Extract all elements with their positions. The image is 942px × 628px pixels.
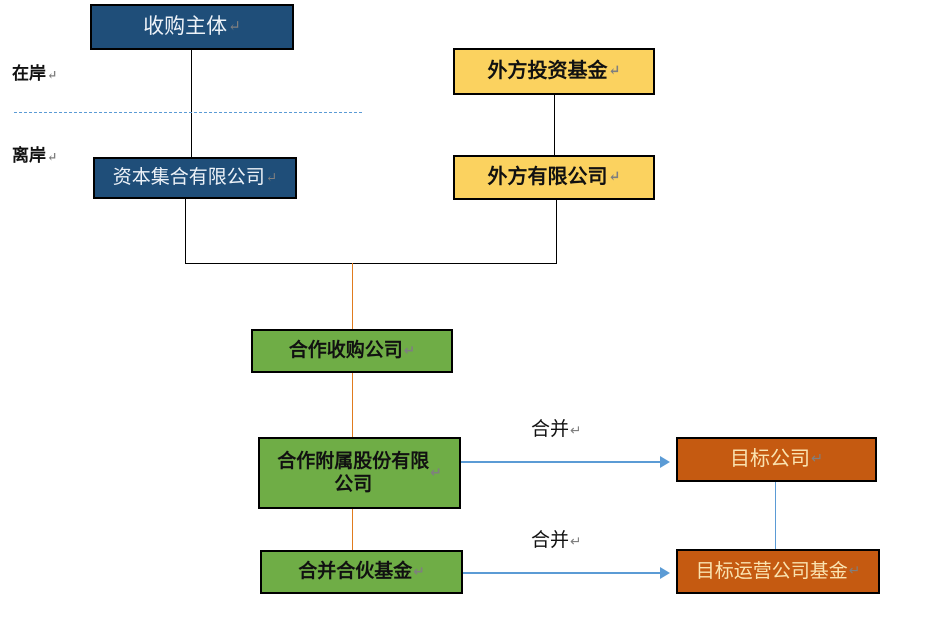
node-acquirer[interactable]: 收购主体↵ [90, 4, 294, 50]
node-target-company-label: 目标公司 [730, 447, 810, 471]
arrow-partnership-merge-opcofund [463, 572, 661, 574]
node-merger-partnership-label: 合并合伙基金 [298, 560, 412, 583]
pilcrow-mark: ↵ [848, 563, 860, 580]
node-acquirer-label: 收购主体 [143, 14, 227, 40]
pilcrow-mark: ↵ [429, 465, 441, 482]
pilcrow-mark: ↵ [46, 68, 57, 82]
connector-foreignfund-to-foreignltd [554, 95, 555, 157]
edge-label-merge-bottom: 合并↵ [531, 525, 581, 552]
onshore-offshore-divider [14, 112, 362, 113]
connector-capital-down [185, 199, 186, 263]
node-capital-holding-label: 资本集合有限公司 [113, 166, 265, 189]
pilcrow-mark: ↵ [810, 451, 823, 469]
connector-junction-to-jv [352, 263, 353, 329]
pilcrow-mark: ↵ [607, 169, 620, 187]
connector-foreignltd-down [556, 200, 557, 263]
pilcrow-mark: ↵ [227, 18, 241, 36]
pilcrow-mark: ↵ [46, 150, 57, 164]
connector-jv-to-subsidiary [352, 373, 353, 437]
pilcrow-mark: ↵ [403, 343, 415, 360]
node-jv-acquisition-label: 合作收购公司 [289, 339, 403, 362]
node-capital-holding[interactable]: 资本集合有限公司↵ [93, 157, 297, 199]
zone-label-offshore-text: 离岸 [12, 146, 46, 165]
node-target-opco-fund-label: 目标运营公司基金 [696, 560, 848, 583]
node-target-opco-fund[interactable]: 目标运营公司基金↵ [676, 549, 880, 594]
node-jv-subsidiary[interactable]: 合作附属股份有限 公司↵ [258, 437, 461, 509]
pilcrow-mark: ↵ [569, 534, 581, 549]
node-foreign-fund[interactable]: 外方投资基金↵ [453, 48, 655, 95]
edge-label-merge-top-text: 合并 [531, 419, 569, 440]
edge-label-merge-top: 合并↵ [531, 414, 581, 441]
node-merger-partnership[interactable]: 合并合伙基金↵ [260, 550, 463, 594]
pilcrow-mark: ↵ [569, 423, 581, 438]
connector-junction-bar [185, 263, 557, 264]
node-foreign-fund-label: 外方投资基金 [487, 59, 607, 83]
edge-label-merge-bottom-text: 合并 [531, 530, 569, 551]
node-foreign-limited-label: 外方有限公司 [487, 165, 607, 189]
zone-label-onshore: 在岸↵ [12, 59, 57, 84]
connector-subsidiary-to-partnership [352, 509, 353, 550]
connector-acquirer-to-capital [191, 50, 192, 158]
pilcrow-mark: ↵ [412, 564, 424, 581]
zone-label-onshore-text: 在岸 [12, 64, 46, 83]
connector-target-to-opcofund [775, 482, 776, 549]
zone-label-offshore: 离岸↵ [12, 141, 57, 166]
pilcrow-mark: ↵ [607, 63, 620, 81]
pilcrow-mark: ↵ [265, 170, 277, 187]
node-target-company[interactable]: 目标公司↵ [676, 437, 877, 482]
node-jv-subsidiary-label: 合作附属股份有限 公司 [277, 450, 429, 496]
diagram-canvas: 在岸↵ 离岸↵ 合并↵ 合并↵ 收购主体↵ 资本集合有限公司↵ 外方投资基金↵ … [0, 0, 942, 628]
arrow-subsidiary-merge-target [461, 461, 661, 463]
node-foreign-limited[interactable]: 外方有限公司↵ [453, 155, 655, 200]
node-jv-acquisition[interactable]: 合作收购公司↵ [251, 329, 453, 373]
